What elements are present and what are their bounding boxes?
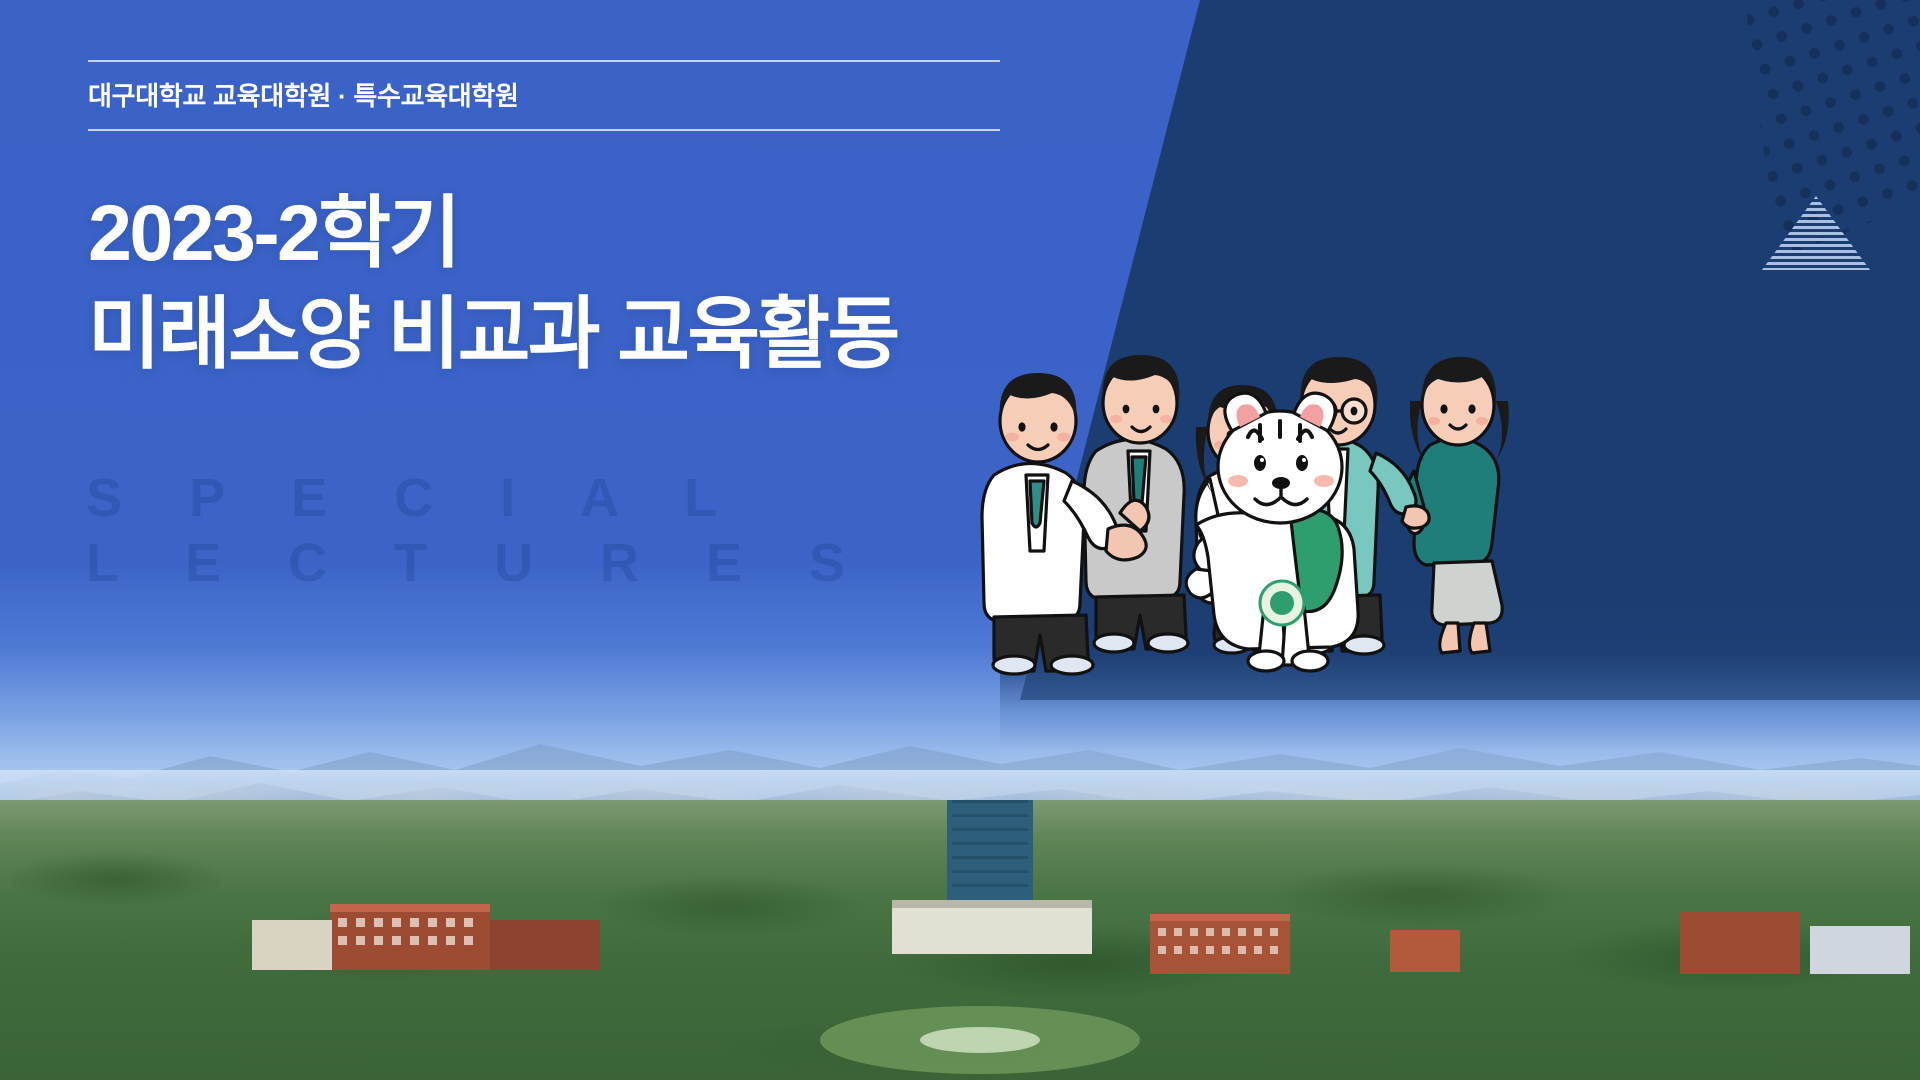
- banner-root: 대구대학교 교육대학원 · 특수교육대학원 2023-2학기 미래소양 비교과 …: [0, 0, 1920, 1080]
- rule-bottom: [88, 129, 1000, 131]
- eyebrow-text: 대구대학교 교육대학원 · 특수교육대학원: [88, 62, 1000, 129]
- eyebrow-block: 대구대학교 교육대학원 · 특수교육대학원: [88, 60, 1000, 131]
- students-mascot-illustration: [960, 225, 1560, 655]
- page-title: 2023-2학기 미래소양 비교과 교육활동: [88, 182, 898, 384]
- headline-line-2: 미래소양 비교과 교육활동: [88, 283, 898, 384]
- headline-line-1: 2023-2학기: [88, 182, 898, 283]
- campus-ground: [0, 800, 1920, 1080]
